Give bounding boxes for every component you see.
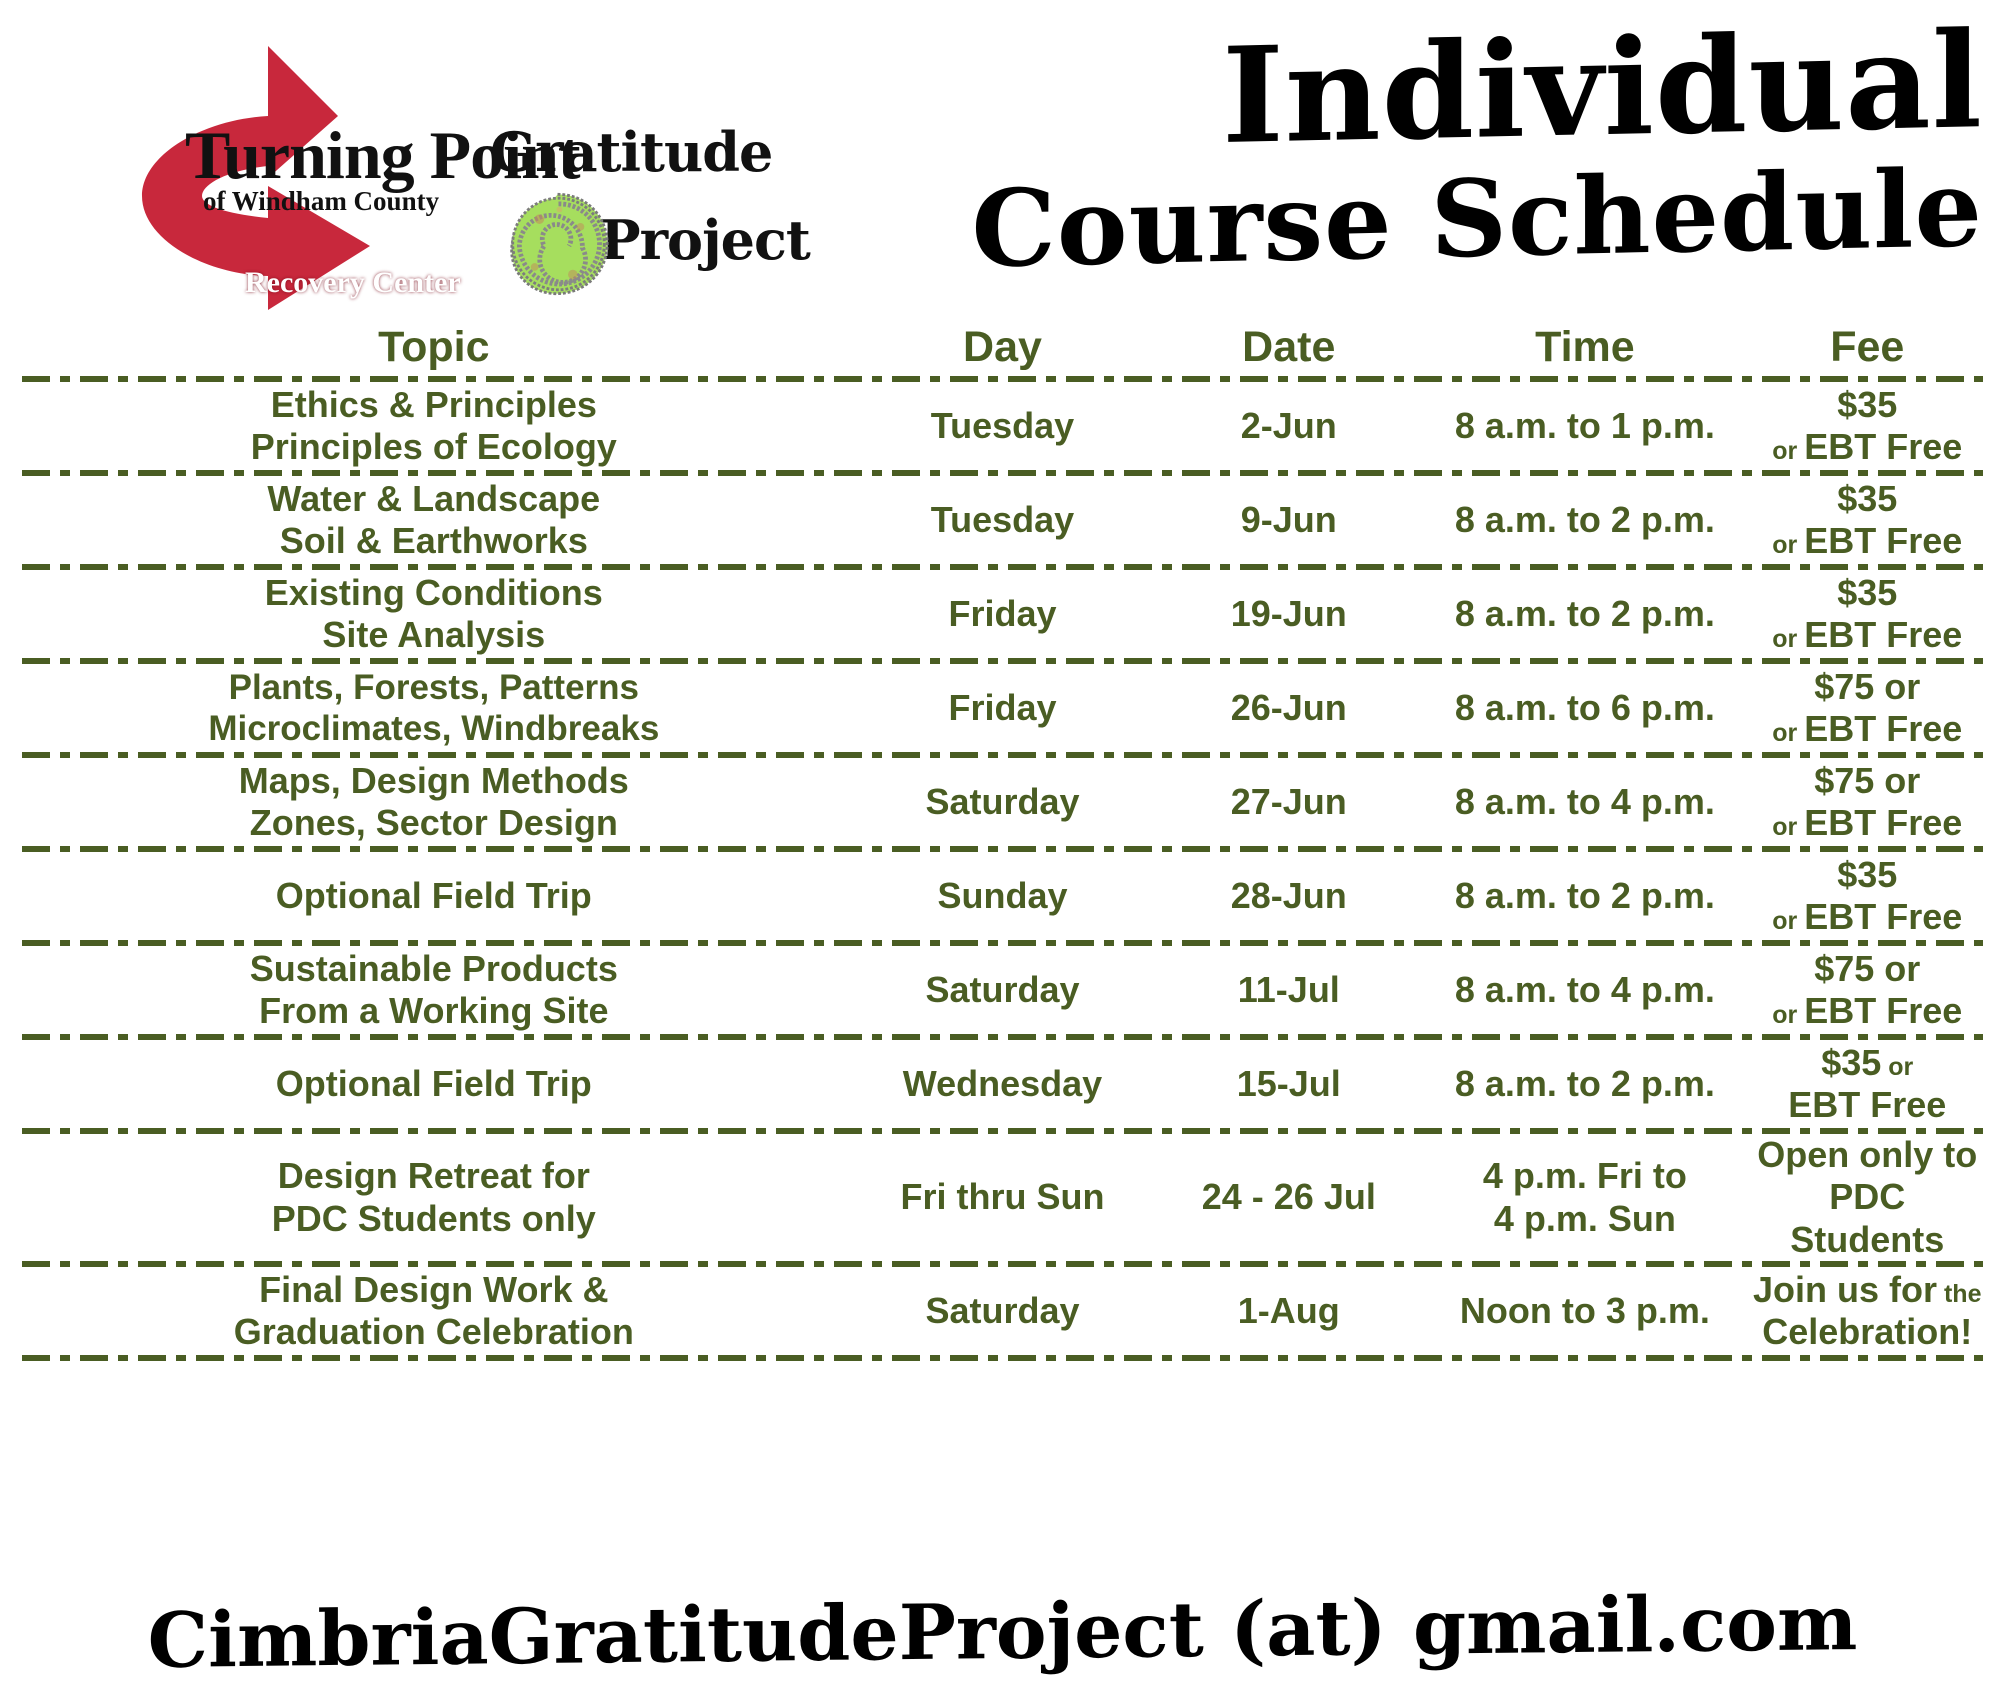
fee-line: Celebration! <box>1752 1311 1983 1353</box>
topic-line: Microclimates, Windbreaks <box>22 708 846 749</box>
topic-line: Ethics & Principles <box>22 384 846 426</box>
fee-text: $35 <box>1837 572 1897 613</box>
cell-fee: $75 oror EBT Free <box>1752 666 1983 751</box>
fee-line: $35 <box>1752 572 1983 614</box>
cell-date: 11-Jul <box>1159 969 1418 1011</box>
fee-text: EBT Free <box>1804 896 1962 937</box>
topic-line: Zones, Sector Design <box>22 802 846 844</box>
spiral-snail-icon <box>506 190 611 298</box>
cell-topic: Maps, Design MethodsZones, Sector Design <box>22 760 846 845</box>
time-line: 8 a.m. to 2 p.m. <box>1418 499 1751 541</box>
topic-line: From a Working Site <box>22 990 846 1032</box>
fee-prefix: or <box>1772 813 1804 841</box>
cell-day: Saturday <box>846 781 1160 823</box>
fee-line: $75 or <box>1752 666 1983 708</box>
cell-date: 1-Aug <box>1159 1290 1418 1332</box>
time-line: 8 a.m. to 4 p.m. <box>1418 969 1751 1011</box>
cell-topic: Final Design Work &Graduation Celebratio… <box>22 1269 846 1354</box>
cell-time: 8 a.m. to 1 p.m. <box>1418 405 1751 447</box>
fee-prefix: or <box>1772 719 1804 747</box>
fee-line: PDC Students <box>1752 1176 1983 1261</box>
cell-time: Noon to 3 p.m. <box>1418 1290 1751 1332</box>
fee-line: $75 or <box>1752 948 1983 990</box>
fee-text: $35 <box>1821 1042 1881 1083</box>
fee-line: or EBT Free <box>1752 426 1983 468</box>
cell-fee: $35 orEBT Free <box>1752 1042 1983 1127</box>
time-line: 4 p.m. Fri to <box>1418 1155 1751 1197</box>
page-header: Turning Point of Windham County Recovery… <box>0 0 2005 318</box>
topic-line: Optional Field Trip <box>22 875 846 917</box>
topic-line: Optional Field Trip <box>22 1063 846 1105</box>
cell-time: 8 a.m. to 2 p.m. <box>1418 499 1751 541</box>
column-header-time: Time <box>1418 326 1751 369</box>
topic-line: Design Retreat for <box>22 1155 846 1197</box>
cell-day: Tuesday <box>846 405 1160 447</box>
column-header-day: Day <box>846 326 1160 369</box>
fee-prefix: or <box>1772 907 1804 935</box>
page-footer: CimbriaGratitudeProject (at) gmail.com <box>0 1587 2005 1676</box>
cell-date: 15-Jul <box>1159 1063 1418 1105</box>
fee-prefix: or <box>1772 437 1804 465</box>
cell-topic: Ethics & PrinciplesPrinciples of Ecology <box>22 384 846 469</box>
cell-date: 24 - 26 Jul <box>1159 1176 1418 1218</box>
time-line: 8 a.m. to 2 p.m. <box>1418 1063 1751 1105</box>
course-schedule-table: Topic Day Date Time Fee Ethics & Princip… <box>0 318 2005 1361</box>
topic-line: Principles of Ecology <box>22 426 846 468</box>
table-row: Water & LandscapeSoil & EarthworksTuesda… <box>0 476 2005 564</box>
cell-fee: $35or EBT Free <box>1752 572 1983 657</box>
fee-line: $35 <box>1752 384 1983 426</box>
page-title-line2: Course Schedule <box>943 151 1983 287</box>
cell-day: Saturday <box>846 969 1160 1011</box>
organization-logo: Turning Point of Windham County Recovery… <box>70 38 960 318</box>
cell-fee: $35or EBT Free <box>1752 478 1983 563</box>
cell-date: 19-Jun <box>1159 593 1418 635</box>
cell-fee: $35or EBT Free <box>1752 854 1983 939</box>
brand-recovery-center: Recovery Center <box>245 266 461 300</box>
fee-text: EBT Free <box>1804 708 1962 749</box>
table-row: Sustainable ProductsFrom a Working SiteS… <box>0 946 2005 1034</box>
fee-suffix: or <box>1881 1053 1913 1081</box>
table-row: Final Design Work &Graduation Celebratio… <box>0 1267 2005 1355</box>
cell-day: Wednesday <box>846 1063 1160 1105</box>
time-line: 8 a.m. to 1 p.m. <box>1418 405 1751 447</box>
fee-line: $75 or <box>1752 760 1983 802</box>
table-row: Ethics & PrinciplesPrinciples of Ecology… <box>0 382 2005 470</box>
table-row: Existing ConditionsSite AnalysisFriday19… <box>0 570 2005 658</box>
topic-line: Site Analysis <box>22 614 846 656</box>
fee-text: PDC Students <box>1790 1176 1944 1259</box>
cell-day: Friday <box>846 593 1160 635</box>
cell-fee: Open only toPDC Students <box>1752 1134 1983 1261</box>
fee-line: Open only to <box>1752 1134 1983 1176</box>
cell-day: Sunday <box>846 875 1160 917</box>
fee-text: EBT Free <box>1804 520 1962 561</box>
cell-topic: Design Retreat forPDC Students only <box>22 1155 846 1240</box>
fee-line: Join us for the <box>1752 1269 1983 1311</box>
gratitude-label: Gratitude <box>490 120 820 184</box>
table-row: Optional Field TripSunday28-Jun8 a.m. to… <box>0 852 2005 940</box>
cell-fee: $75 oror EBT Free <box>1752 948 1983 1033</box>
time-line: 8 a.m. to 2 p.m. <box>1418 593 1751 635</box>
cell-date: 27-Jun <box>1159 781 1418 823</box>
cell-topic: Optional Field Trip <box>22 1063 846 1105</box>
table-row: Plants, Forests, PatternsMicroclimates, … <box>0 664 2005 752</box>
fee-text: EBT Free <box>1804 614 1962 655</box>
table-header-row: Topic Day Date Time Fee <box>0 318 2005 376</box>
fee-text: EBT Free <box>1804 990 1962 1031</box>
cell-fee: $35or EBT Free <box>1752 384 1983 469</box>
fee-line: or EBT Free <box>1752 708 1983 750</box>
fee-text: EBT Free <box>1804 426 1962 467</box>
fee-text: Join us for <box>1753 1269 1937 1310</box>
cell-day: Fri thru Sun <box>846 1176 1160 1218</box>
topic-line: Soil & Earthworks <box>22 520 846 562</box>
cell-date: 26-Jun <box>1159 687 1418 729</box>
cell-date: 28-Jun <box>1159 875 1418 917</box>
fee-line: $35 <box>1752 478 1983 520</box>
cell-time: 8 a.m. to 4 p.m. <box>1418 781 1751 823</box>
fee-line: $35 or <box>1752 1042 1983 1084</box>
column-header-fee: Fee <box>1752 326 1983 369</box>
cell-day: Tuesday <box>846 499 1160 541</box>
fee-text: $35 <box>1837 384 1897 425</box>
fee-line: or EBT Free <box>1752 896 1983 938</box>
fee-text: EBT Free <box>1788 1084 1946 1125</box>
cell-day: Saturday <box>846 1290 1160 1332</box>
cell-time: 8 a.m. to 2 p.m. <box>1418 593 1751 635</box>
fee-text: $75 or <box>1814 666 1920 707</box>
topic-line: Water & Landscape <box>22 478 846 520</box>
fee-text: EBT Free <box>1804 802 1962 843</box>
fee-prefix: or <box>1772 1001 1804 1029</box>
topic-line: Maps, Design Methods <box>22 760 846 802</box>
cell-date: 2-Jun <box>1159 405 1418 447</box>
cell-fee: $75 oror EBT Free <box>1752 760 1983 845</box>
cell-topic: Water & LandscapeSoil & Earthworks <box>22 478 846 563</box>
fee-prefix: or <box>1772 531 1804 559</box>
gratitude-project-wordmark: Gratitude Project <box>490 120 820 305</box>
cell-date: 9-Jun <box>1159 499 1418 541</box>
fee-text: $75 or <box>1814 948 1920 989</box>
page-title: Individual Course Schedule <box>943 26 1983 276</box>
time-line: 8 a.m. to 6 p.m. <box>1418 687 1751 729</box>
fee-line: $35 <box>1752 854 1983 896</box>
contact-email: CimbriaGratitudeProject (at) gmail.com <box>0 1577 2005 1687</box>
fee-text: $35 <box>1837 854 1897 895</box>
fee-text: $35 <box>1837 478 1897 519</box>
page-title-line1: Individual <box>943 15 1983 169</box>
fee-line: EBT Free <box>1752 1084 1983 1126</box>
row-divider <box>22 1355 1983 1361</box>
fee-line: or EBT Free <box>1752 614 1983 656</box>
cell-topic: Existing ConditionsSite Analysis <box>22 572 846 657</box>
fee-text: Open only to <box>1757 1134 1977 1175</box>
cell-fee: Join us for theCelebration! <box>1752 1269 1983 1354</box>
table-row: Optional Field TripWednesday15-Jul8 a.m.… <box>0 1040 2005 1128</box>
cell-topic: Plants, Forests, PatternsMicroclimates, … <box>22 667 846 750</box>
cell-topic: Optional Field Trip <box>22 875 846 917</box>
column-header-date: Date <box>1159 326 1418 369</box>
table-row: Maps, Design MethodsZones, Sector Design… <box>0 758 2005 846</box>
fee-prefix: or <box>1772 625 1804 653</box>
fee-text: $75 or <box>1814 760 1920 801</box>
cell-time: 8 a.m. to 6 p.m. <box>1418 687 1751 729</box>
cell-day: Friday <box>846 687 1160 729</box>
fee-line: or EBT Free <box>1752 990 1983 1032</box>
cell-topic: Sustainable ProductsFrom a Working Site <box>22 948 846 1033</box>
time-line: 4 p.m. Sun <box>1418 1198 1751 1240</box>
time-line: 8 a.m. to 4 p.m. <box>1418 781 1751 823</box>
column-header-topic: Topic <box>22 326 846 369</box>
time-line: Noon to 3 p.m. <box>1418 1290 1751 1332</box>
cell-time: 4 p.m. Fri to4 p.m. Sun <box>1418 1155 1751 1240</box>
topic-line: PDC Students only <box>22 1198 846 1240</box>
topic-line: Final Design Work & <box>22 1269 846 1311</box>
table-row: Design Retreat forPDC Students onlyFri t… <box>0 1134 2005 1261</box>
fee-suffix: the <box>1937 1280 1981 1308</box>
fee-line: or EBT Free <box>1752 802 1983 844</box>
fee-text: Celebration! <box>1762 1311 1972 1352</box>
cell-time: 8 a.m. to 4 p.m. <box>1418 969 1751 1011</box>
fee-line: or EBT Free <box>1752 520 1983 562</box>
cell-time: 8 a.m. to 2 p.m. <box>1418 875 1751 917</box>
time-line: 8 a.m. to 2 p.m. <box>1418 875 1751 917</box>
project-label: Project <box>600 208 820 272</box>
cell-time: 8 a.m. to 2 p.m. <box>1418 1063 1751 1105</box>
topic-line: Graduation Celebration <box>22 1311 846 1353</box>
topic-line: Plants, Forests, Patterns <box>22 667 846 708</box>
topic-line: Existing Conditions <box>22 572 846 614</box>
topic-line: Sustainable Products <box>22 948 846 990</box>
